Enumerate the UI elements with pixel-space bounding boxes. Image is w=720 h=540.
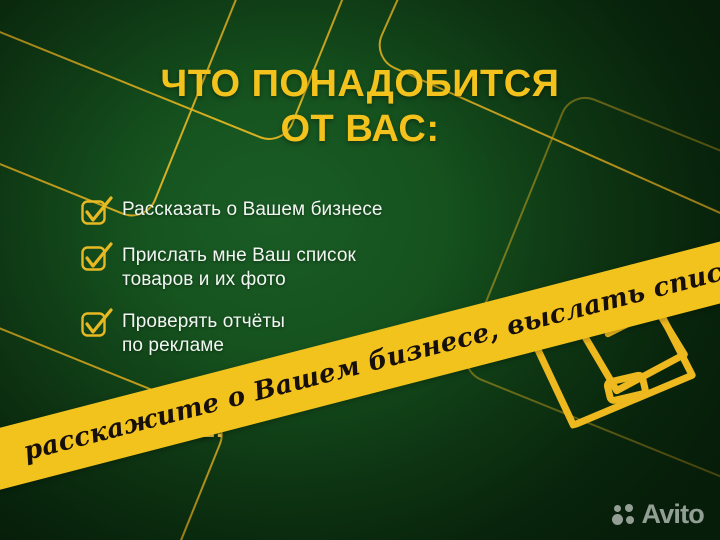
checkbox-checked-icon [80,312,106,338]
checkbox-checked-icon [80,246,106,272]
page-title-line-2: ОТ ВАС: [0,107,720,152]
avito-wordmark: Avito [642,501,705,528]
list-item-label: Рассказать о Вашем бизнесе [122,198,383,222]
promo-slide: ЧТО ПОНАДОБИТСЯ ОТ ВАС: Рассказать о Ваш… [0,0,720,540]
list-item-label: Проверять отчёты по рекламе [122,310,285,358]
list-item-label: Прислать мне Ваш список товаров и их фот… [122,244,356,292]
page-title-line-1: ЧТО ПОНАДОБИТСЯ [161,63,560,105]
list-item: Прислать мне Ваш список товаров и их фот… [80,244,500,292]
checkbox-checked-icon [80,200,106,226]
page-title: ЧТО ПОНАДОБИТСЯ ОТ ВАС: [0,62,720,152]
list-item: Рассказать о Вашем бизнесе [80,198,500,226]
avito-watermark: Avito [612,501,705,528]
avito-dots-logo-icon [612,503,636,527]
